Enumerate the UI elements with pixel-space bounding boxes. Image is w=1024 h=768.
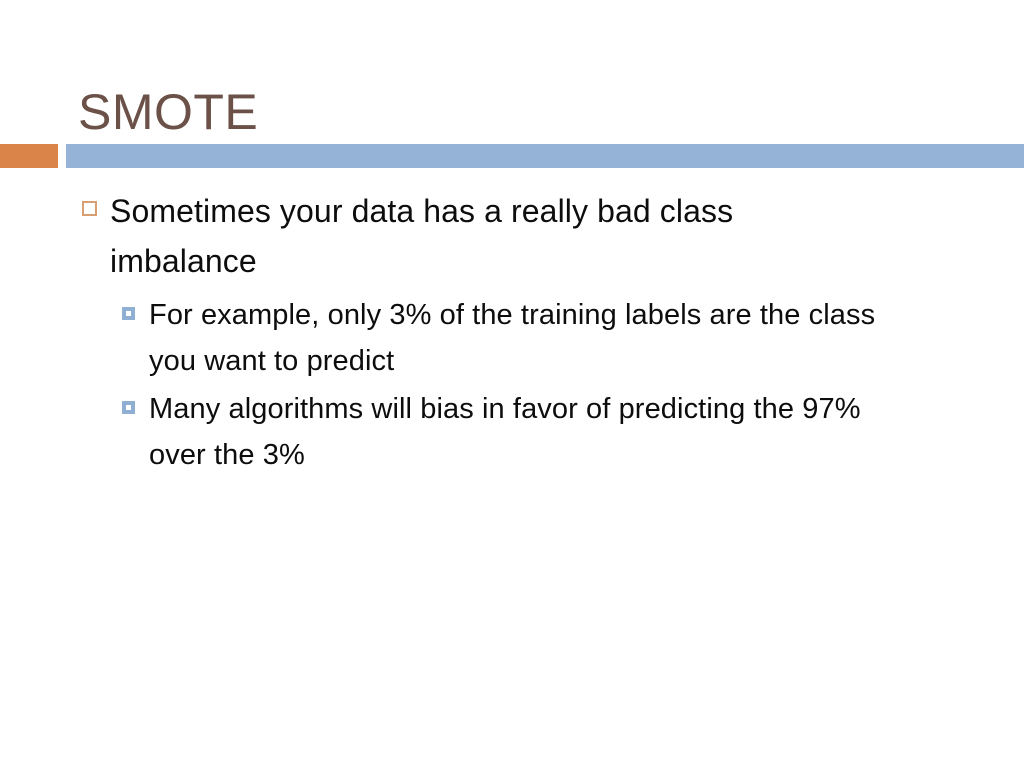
bullet-text: Many algorithms will bias in favor of pr…	[149, 386, 924, 478]
bullet-text: For example, only 3% of the training lab…	[149, 292, 924, 384]
slide-title: SMOTE	[78, 82, 258, 142]
presentation-slide: SMOTE Sometimes your data has a really b…	[0, 0, 1024, 768]
small-filled-square-bullet-icon	[122, 307, 135, 320]
slide-body: Sometimes your data has a really bad cla…	[0, 186, 1024, 480]
bullet-item-level1: Sometimes your data has a really bad cla…	[0, 186, 1024, 286]
title-divider-bar	[66, 144, 1024, 168]
title-divider-accent-block	[0, 144, 58, 168]
small-filled-square-bullet-icon	[122, 401, 135, 414]
bullet-item-level2: Many algorithms will bias in favor of pr…	[0, 386, 1024, 478]
bullet-text: Sometimes your data has a really bad cla…	[110, 186, 855, 286]
hollow-square-bullet-icon	[82, 201, 97, 216]
bullet-item-level2: For example, only 3% of the training lab…	[0, 292, 1024, 384]
